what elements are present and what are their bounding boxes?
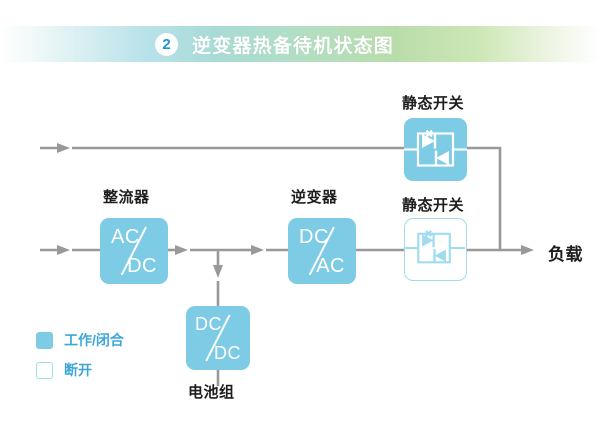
static-switch-bypass-label: 静态开关 xyxy=(402,92,464,113)
inverter-converter-symbol: DC AC xyxy=(288,218,356,284)
legend-swatch-active xyxy=(36,332,53,349)
static-switch-output-label: 静态开关 xyxy=(402,194,464,215)
rectifier-bottom-text: DC xyxy=(127,255,157,278)
battery-top-text: DC xyxy=(195,314,222,335)
legend-label-active: 工作/闭合 xyxy=(64,330,124,350)
inverter-bottom-text: AC xyxy=(316,255,345,278)
legend-swatch-open xyxy=(36,362,53,379)
inverter-block[interactable]: DC AC xyxy=(288,218,356,284)
legend-item-open: 断开 xyxy=(36,360,124,380)
rectifier-block[interactable]: AC DC xyxy=(100,218,168,284)
legend-label-open: 断开 xyxy=(64,360,92,380)
wire-bypass-switch-to-bus xyxy=(467,148,500,250)
legend-item-active: 工作/闭合 xyxy=(36,330,124,350)
battery-label: 电池组 xyxy=(188,381,235,402)
legend: 工作/闭合 断开 xyxy=(36,330,124,390)
battery-bottom-text: DC xyxy=(214,343,241,364)
thyristor-pair-icon xyxy=(405,219,465,279)
inverter-label: 逆变器 xyxy=(291,186,338,207)
rectifier-converter-symbol: AC DC xyxy=(100,218,168,284)
load-label: 负载 xyxy=(548,240,583,265)
battery-converter-block[interactable]: DC DC xyxy=(186,306,250,370)
thyristor-pair-icon xyxy=(404,118,467,181)
static-switch-output-block[interactable] xyxy=(404,218,467,281)
diagram-canvas: 2 逆变器热备待机状态图 xyxy=(0,0,600,428)
static-switch-bypass-block[interactable] xyxy=(404,118,467,181)
battery-converter-symbol: DC DC xyxy=(186,306,250,370)
rectifier-label: 整流器 xyxy=(103,186,150,207)
